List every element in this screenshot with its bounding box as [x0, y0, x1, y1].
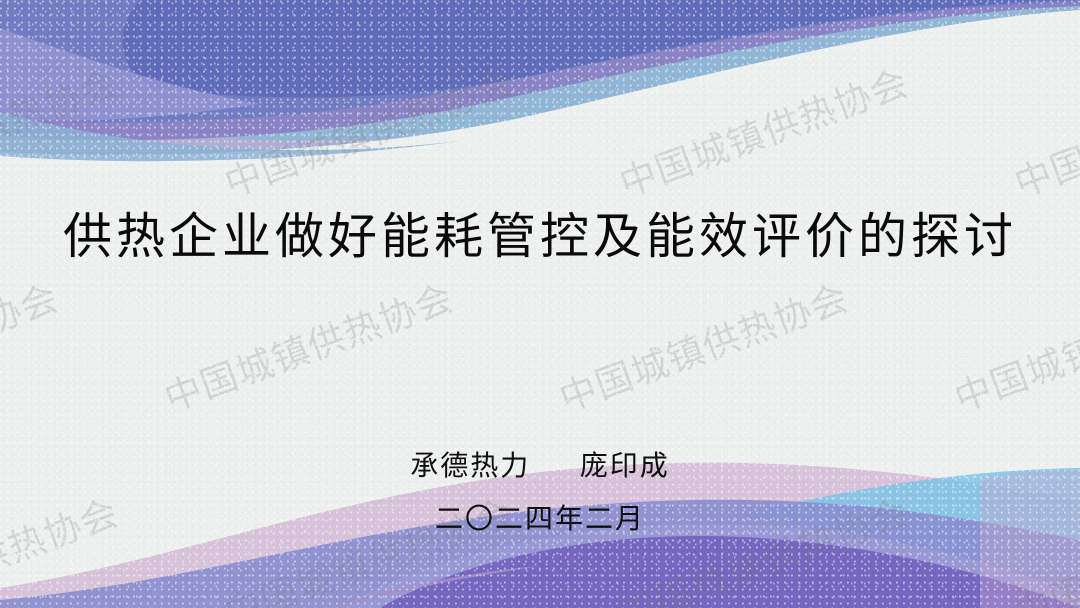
slide-title: 供热企业做好能耗管控及能效评价的探讨 — [0, 206, 1080, 268]
presenter-org: 承德热力 — [410, 450, 530, 481]
presenter-line: 承德热力 庞印成 — [0, 448, 1080, 484]
slide-date: 二〇二四年二月 — [0, 501, 1080, 537]
slide-content: 供热企业做好能耗管控及能效评价的探讨 承德热力 庞印成 二〇二四年二月 — [0, 0, 1080, 608]
presentation-slide: 中国城镇供热协会中国城镇供热协会中国城镇供热协会中国城镇供热协会中国城镇供热协会… — [0, 0, 1080, 608]
presenter-name: 庞印成 — [580, 450, 670, 481]
